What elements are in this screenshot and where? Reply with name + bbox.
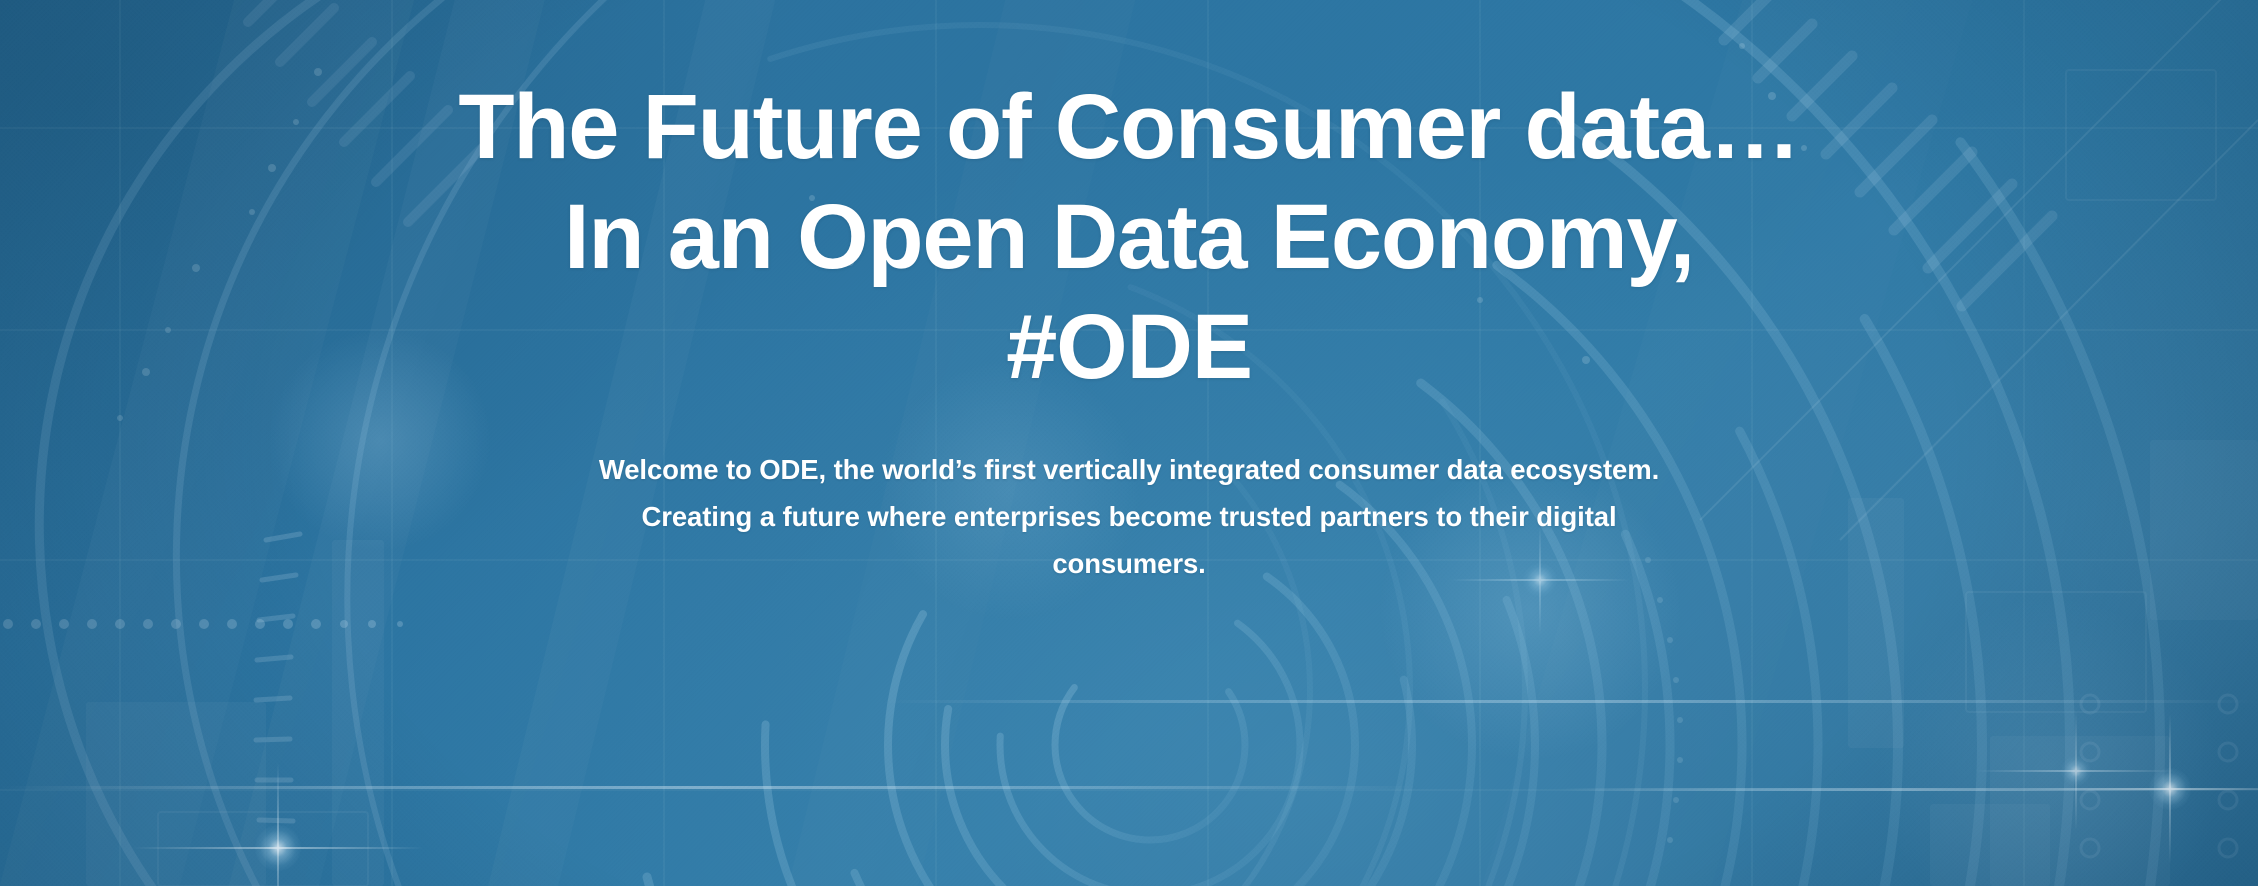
- hero-banner: The Future of Consumer data… In an Open …: [0, 0, 2258, 886]
- hero-content: The Future of Consumer data… In an Open …: [0, 0, 2258, 886]
- headline-line-2: In an Open Data Economy,: [29, 182, 2229, 292]
- subheading-line-1: Welcome to ODE, the world’s first vertic…: [519, 446, 1739, 493]
- subheading-line-2: Creating a future where enterprises beco…: [519, 493, 1739, 540]
- page-title: The Future of Consumer data… In an Open …: [29, 0, 2229, 402]
- subheading-line-3: consumers.: [519, 540, 1739, 587]
- headline-line-3-hashtag: #ODE: [29, 292, 2229, 402]
- headline-line-1: The Future of Consumer data…: [29, 72, 2229, 182]
- hero-subheading: Welcome to ODE, the world’s first vertic…: [519, 402, 1739, 587]
